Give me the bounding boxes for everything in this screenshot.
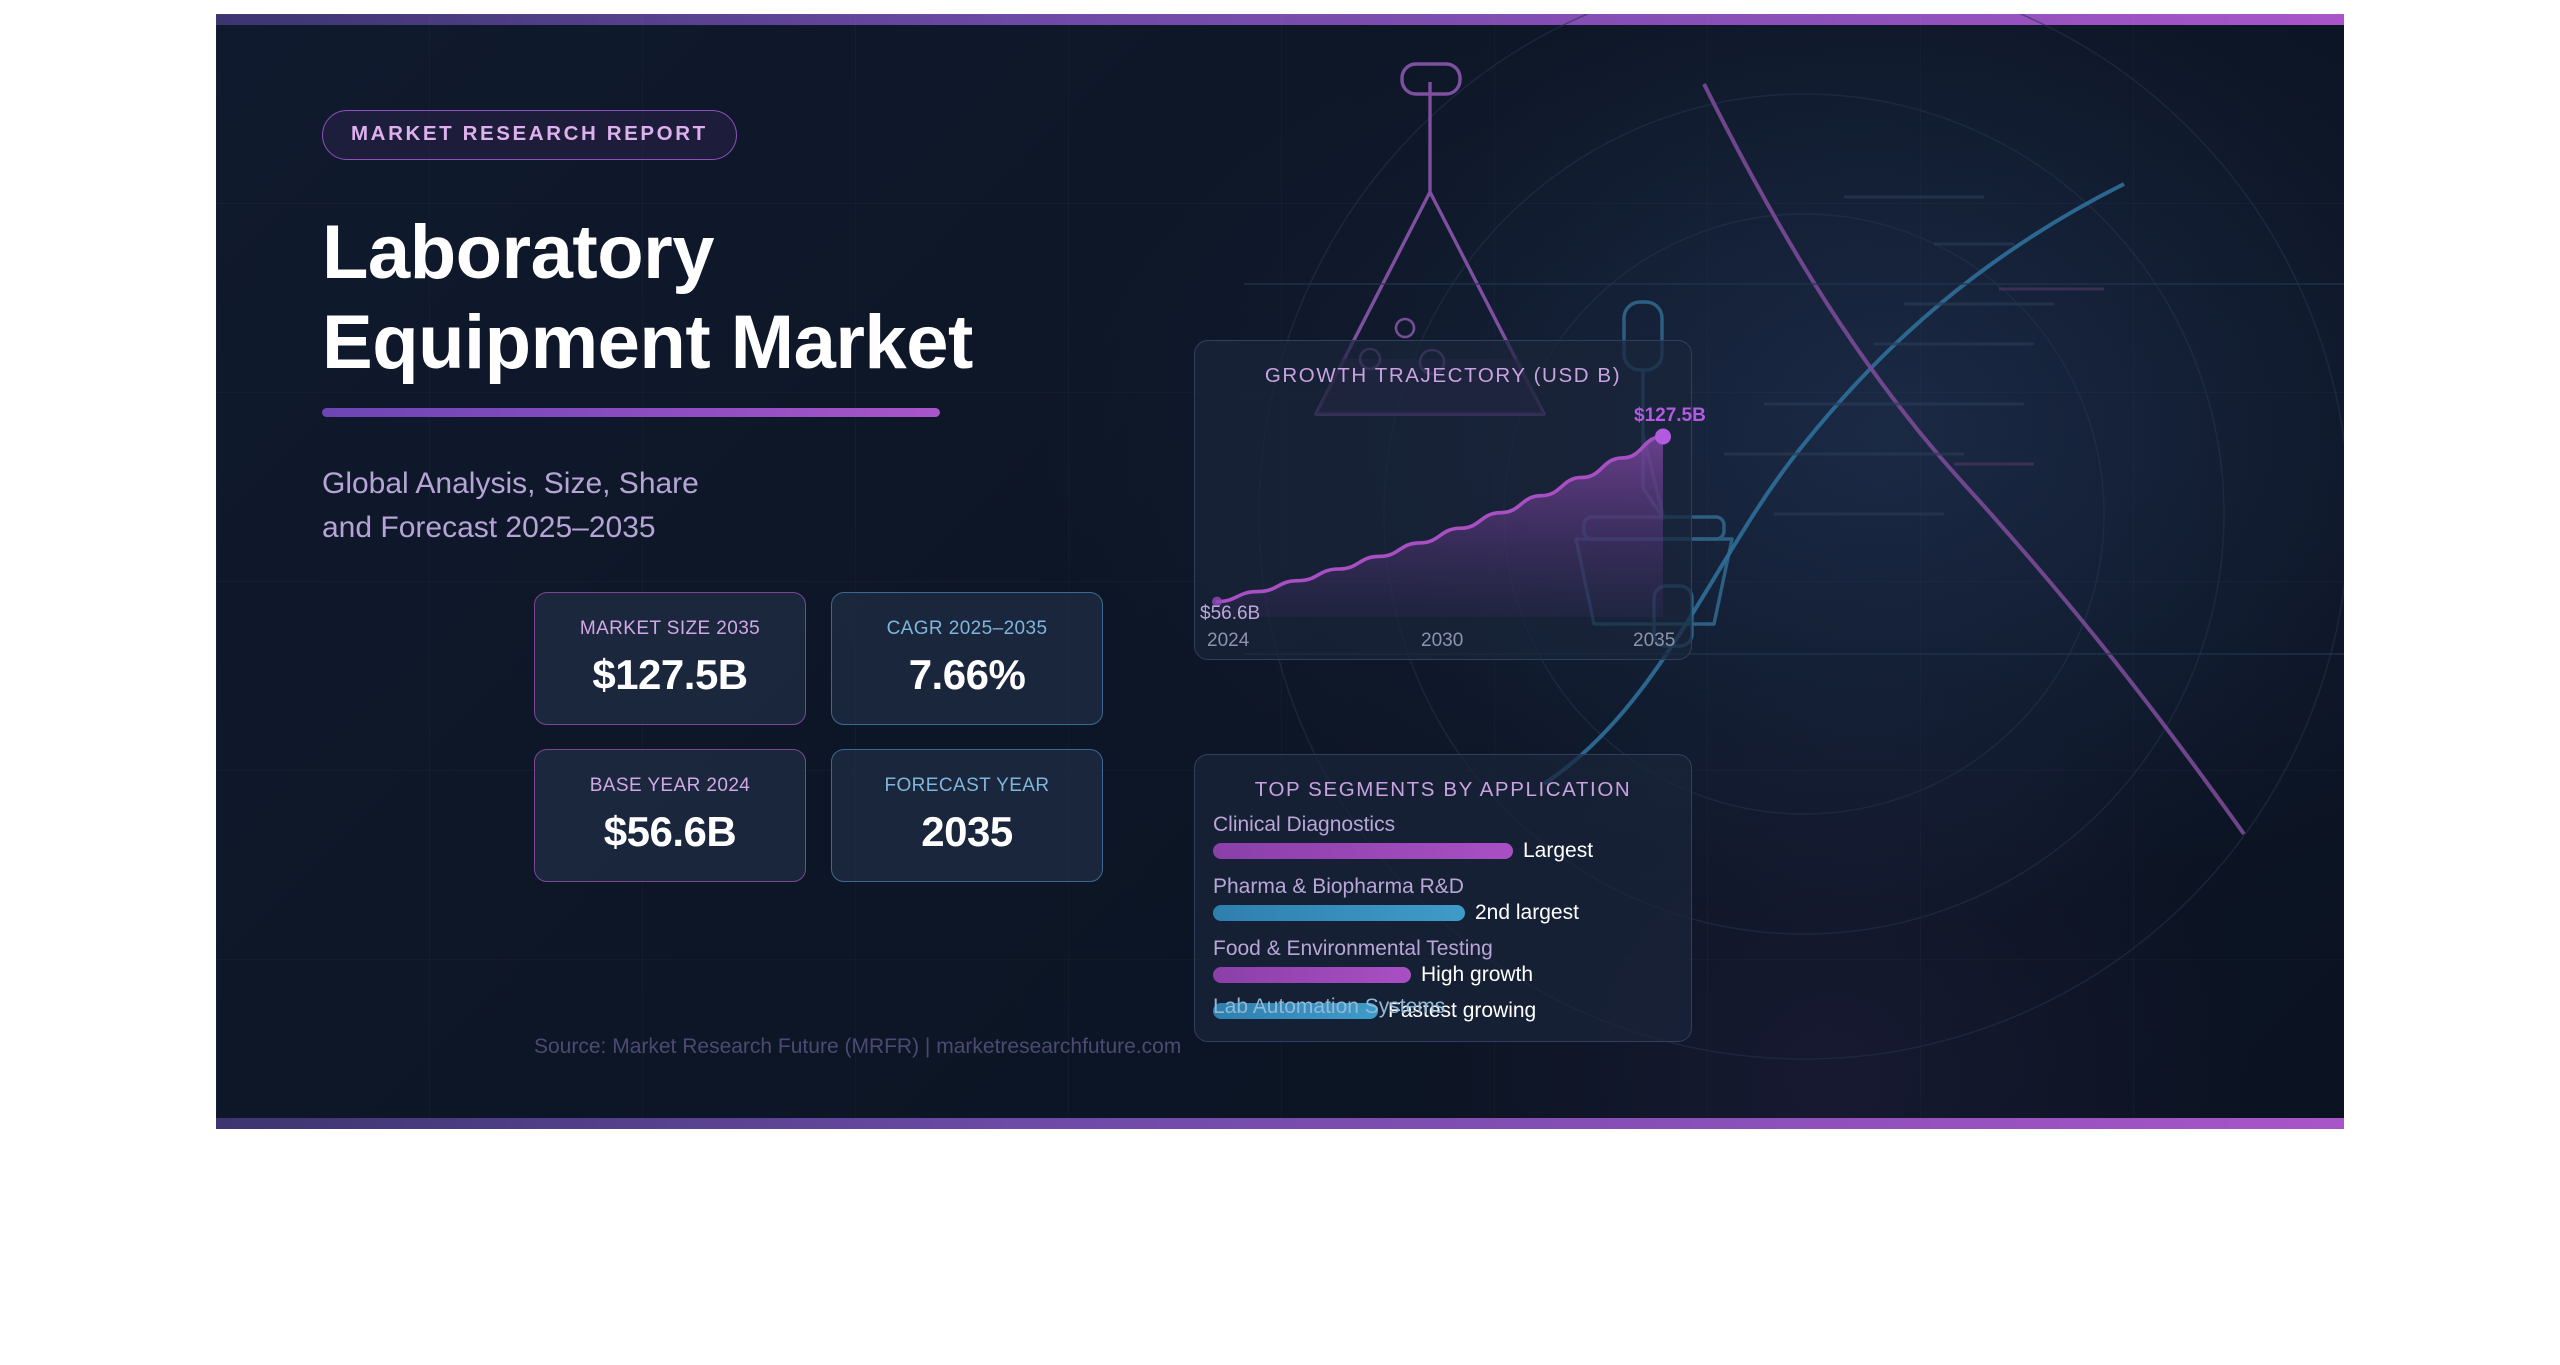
segment-bar	[1213, 843, 1513, 859]
stat-card-value: 7.66%	[909, 651, 1026, 699]
bottom-accent-bar	[216, 1118, 2344, 1129]
top-segments-panel: TOP SEGMENTS BY APPLICATION Clinical Dia…	[1194, 754, 1692, 1042]
report-badge: MARKET RESEARCH REPORT	[322, 110, 737, 160]
segment-row: Pharma & Biopharma R&D2nd largest	[1213, 875, 1683, 937]
top-accent-bar	[216, 14, 2344, 25]
segment-bar	[1213, 967, 1411, 983]
stat-card-label: CAGR 2025–2035	[887, 618, 1048, 640]
stat-card-label: MARKET SIZE 2035	[580, 618, 760, 640]
growth-chart-svg	[1195, 385, 1693, 661]
x-axis-tick-2035: 2035	[1633, 630, 1675, 652]
segment-name: Pharma & Biopharma R&D	[1213, 875, 1464, 899]
source-attribution: Source: Market Research Future (MRFR) | …	[534, 1035, 1181, 1059]
title-underline	[322, 408, 940, 417]
x-axis-tick-2030: 2030	[1421, 630, 1463, 652]
page-title: Laboratory Equipment Market	[322, 208, 1082, 389]
segment-row: Lab Automation SystemsFastest growing	[1213, 999, 1683, 1033]
stat-card: FORECAST YEAR2035	[831, 749, 1103, 882]
segment-tag: High growth	[1421, 963, 1533, 987]
poster-canvas: MARKET RESEARCH REPORT Laboratory Equipm…	[216, 14, 2344, 1129]
stat-card-label: FORECAST YEAR	[885, 775, 1050, 797]
segment-bar	[1213, 905, 1465, 921]
segments-list: Clinical DiagnosticsLargestPharma & Biop…	[1213, 813, 1683, 1033]
descending-curve-icon	[1704, 84, 2244, 834]
segments-panel-title: TOP SEGMENTS BY APPLICATION	[1195, 778, 1691, 802]
stat-card: MARKET SIZE 2035$127.5B	[534, 592, 806, 725]
stats-grid: MARKET SIZE 2035$127.5BCAGR 2025–20357.6…	[534, 592, 1103, 882]
stat-card-value: $56.6B	[604, 808, 736, 856]
growth-trajectory-panel: GROWTH TRAJECTORY (USD B) $127.5B $56.6B…	[1194, 340, 1692, 660]
chart-start-value-label: $56.6B	[1200, 603, 1260, 625]
stat-card-value: 2035	[921, 808, 1012, 856]
x-axis-tick-2024: 2024	[1207, 630, 1249, 652]
stat-card: BASE YEAR 2024$56.6B	[534, 749, 806, 882]
growth-chart: $127.5B $56.6B 2024 2030 2035	[1195, 385, 1693, 661]
header-block: MARKET RESEARCH REPORT Laboratory Equipm…	[322, 110, 1082, 550]
segment-name: Lab Automation Systems	[1213, 995, 1445, 1019]
segment-tag: Largest	[1523, 839, 1593, 863]
stat-card-value: $127.5B	[592, 651, 747, 699]
stat-card: CAGR 2025–20357.66%	[831, 592, 1103, 725]
page-subtitle: Global Analysis, Size, Share and Forecas…	[322, 462, 1082, 550]
chart-end-value-label: $127.5B	[1634, 405, 1706, 427]
segment-name: Food & Environmental Testing	[1213, 937, 1493, 961]
segment-row: Food & Environmental TestingHigh growth	[1213, 937, 1683, 999]
segment-tag: 2nd largest	[1475, 901, 1579, 925]
stat-card-label: BASE YEAR 2024	[590, 775, 751, 797]
segment-name: Clinical Diagnostics	[1213, 813, 1395, 837]
segment-row: Clinical DiagnosticsLargest	[1213, 813, 1683, 875]
